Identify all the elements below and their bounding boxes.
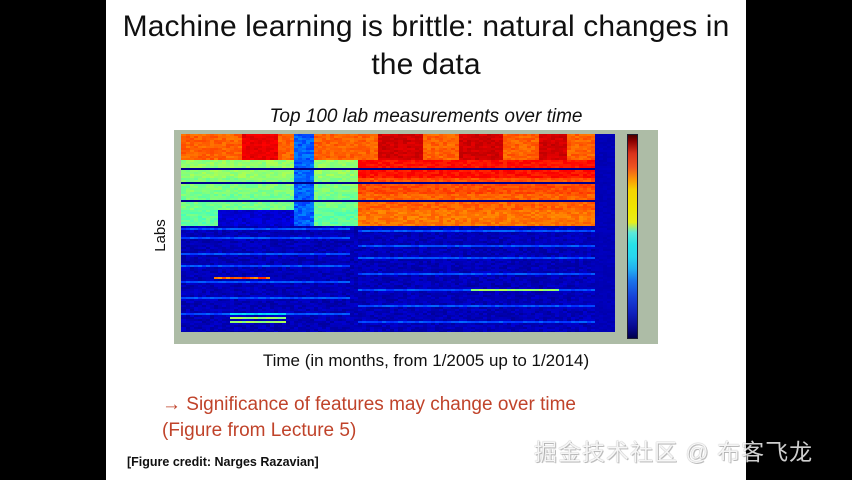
colorbar-tick [640, 294, 654, 295]
y-axis-label-text: Labs [152, 219, 169, 252]
x-axis-caption: Time (in months, from 1/2005 up to 1/201… [106, 351, 746, 371]
takeaway-line-1: → Significance of features may change ov… [162, 392, 746, 418]
takeaway-line-2: (Figure from Lecture 5) [162, 418, 746, 444]
colorbar-tick [640, 216, 654, 217]
page-title: Machine learning is brittle: natural cha… [106, 8, 746, 84]
colorbar-tick [640, 242, 654, 243]
y-axis-label: Labs [150, 185, 170, 285]
colorbar-tick [640, 164, 654, 165]
figure-subtitle: Top 100 lab measurements over time [106, 106, 746, 128]
heatmap-figure [174, 130, 658, 344]
takeaway-bullet: → Significance of features may change ov… [162, 392, 746, 444]
letterbox-bar-right [746, 0, 852, 480]
slide-canvas: Machine learning is brittle: natural cha… [106, 0, 746, 480]
colorbar-tick [640, 138, 654, 139]
figure-credit: [Figure credit: Narges Razavian] [127, 455, 319, 469]
colorbar-tick [640, 268, 654, 269]
heatmap-plot-area [181, 134, 615, 332]
colorbar-tick [640, 320, 654, 321]
colorbar [627, 134, 638, 339]
heatmap-canvas [181, 134, 615, 332]
slide-screenshot: Machine learning is brittle: natural cha… [0, 0, 852, 480]
letterbox-bar-left [0, 0, 106, 480]
colorbar-tick [640, 190, 654, 191]
